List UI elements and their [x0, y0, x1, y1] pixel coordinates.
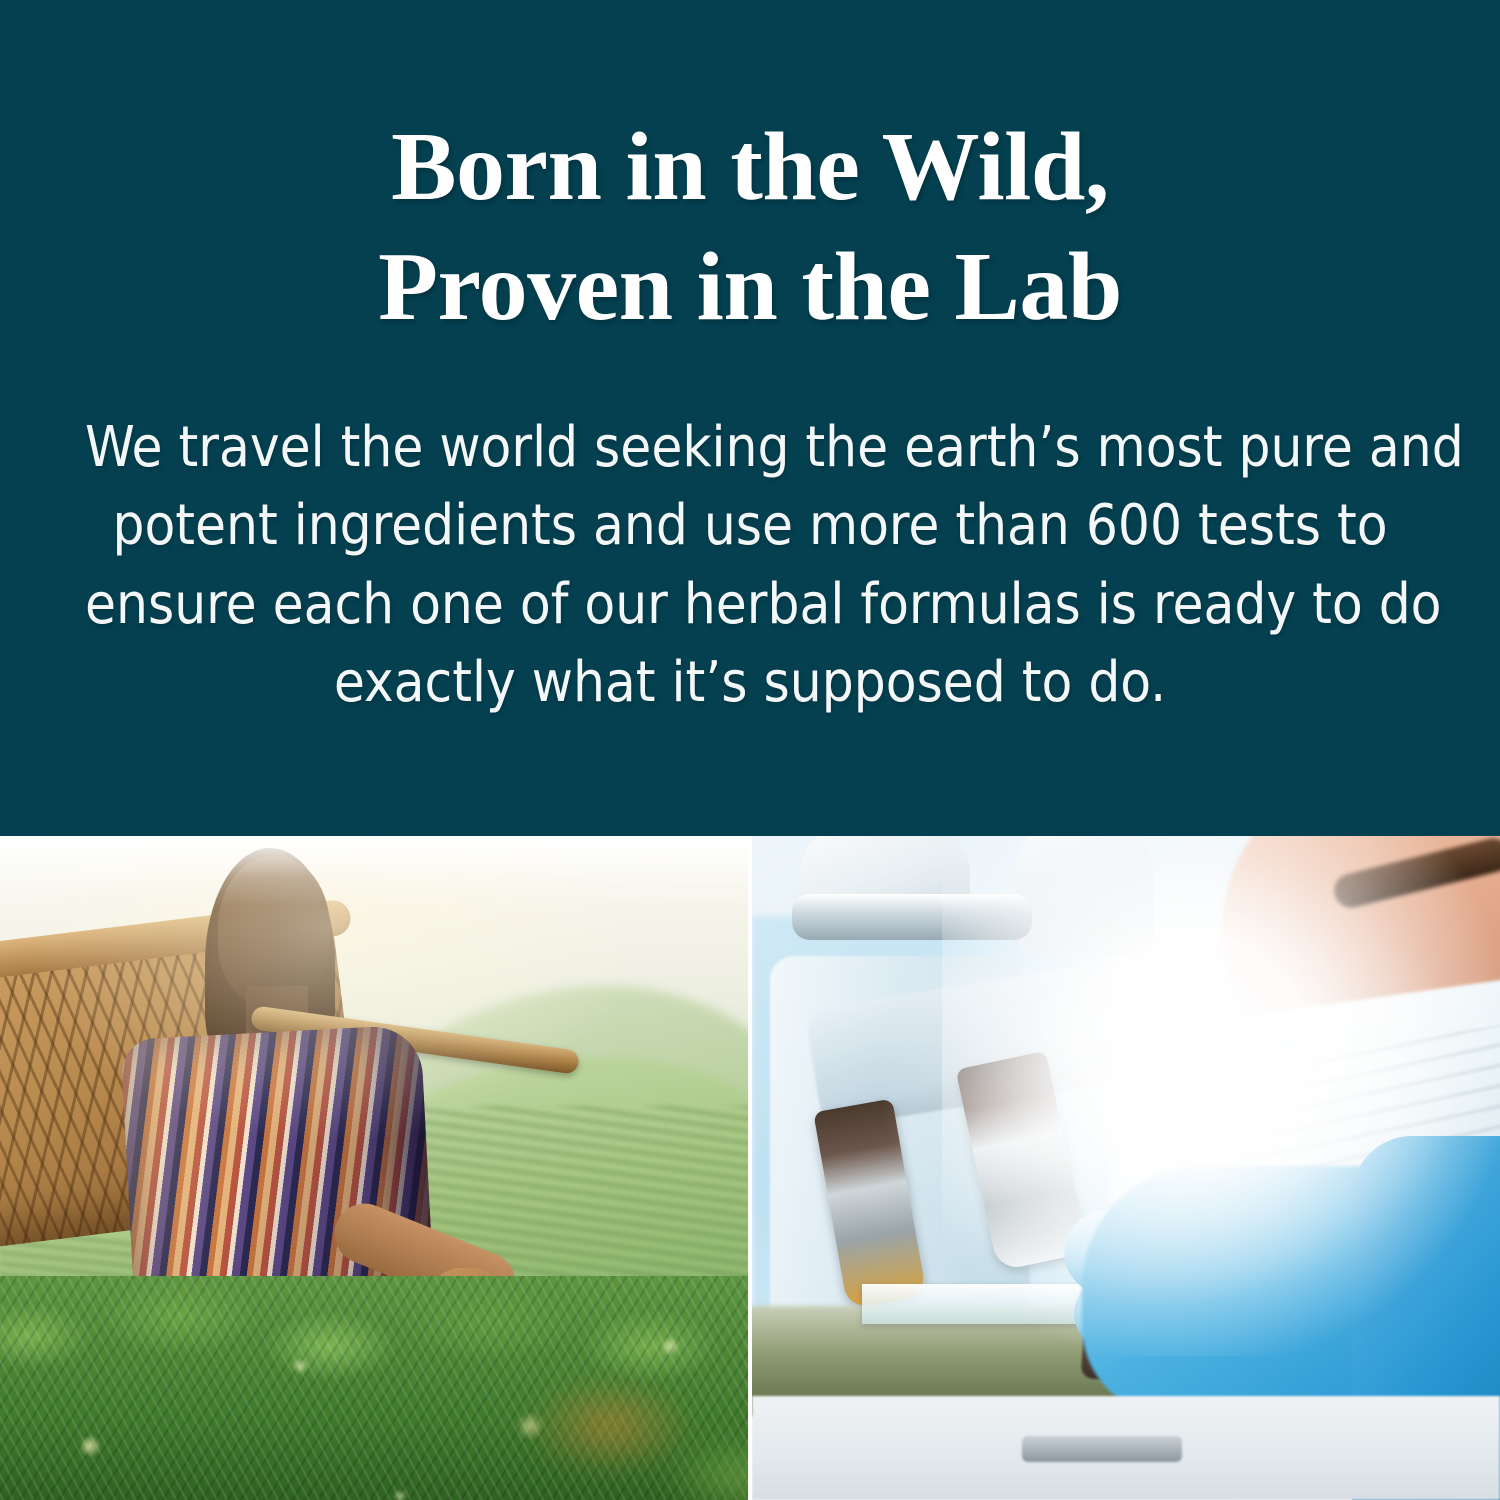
tea-harvest-photo: [0, 836, 748, 1500]
subcopy-line-1: We travel the world seeking the earth’s …: [85, 409, 1415, 487]
headline-line-2: Proven in the Lab: [135, 228, 1365, 348]
foreground-blur: [520, 1356, 748, 1500]
bench-tool: [1022, 1436, 1182, 1462]
hero-panel: Born in the Wild, Proven in the Lab We t…: [0, 0, 1500, 836]
hero-subcopy: We travel the world seeking the earth’s …: [85, 409, 1415, 723]
photo-strip: [0, 836, 1500, 1500]
lens-flare: [942, 836, 1500, 1356]
headline-line-1: Born in the Wild,: [135, 108, 1365, 228]
laboratory-microscope-photo: [752, 836, 1500, 1500]
top-fade: [0, 836, 748, 906]
subcopy-line-4: exactly what it’s supposed to do.: [85, 644, 1415, 722]
page-title: Born in the Wild, Proven in the Lab: [135, 108, 1365, 347]
brand-banner: Born in the Wild, Proven in the Lab We t…: [0, 0, 1500, 1500]
subcopy-line-2: potent ingredients and use more than 600…: [85, 487, 1415, 565]
subcopy-line-3: ensure each one of our herbal formulas i…: [85, 566, 1415, 644]
